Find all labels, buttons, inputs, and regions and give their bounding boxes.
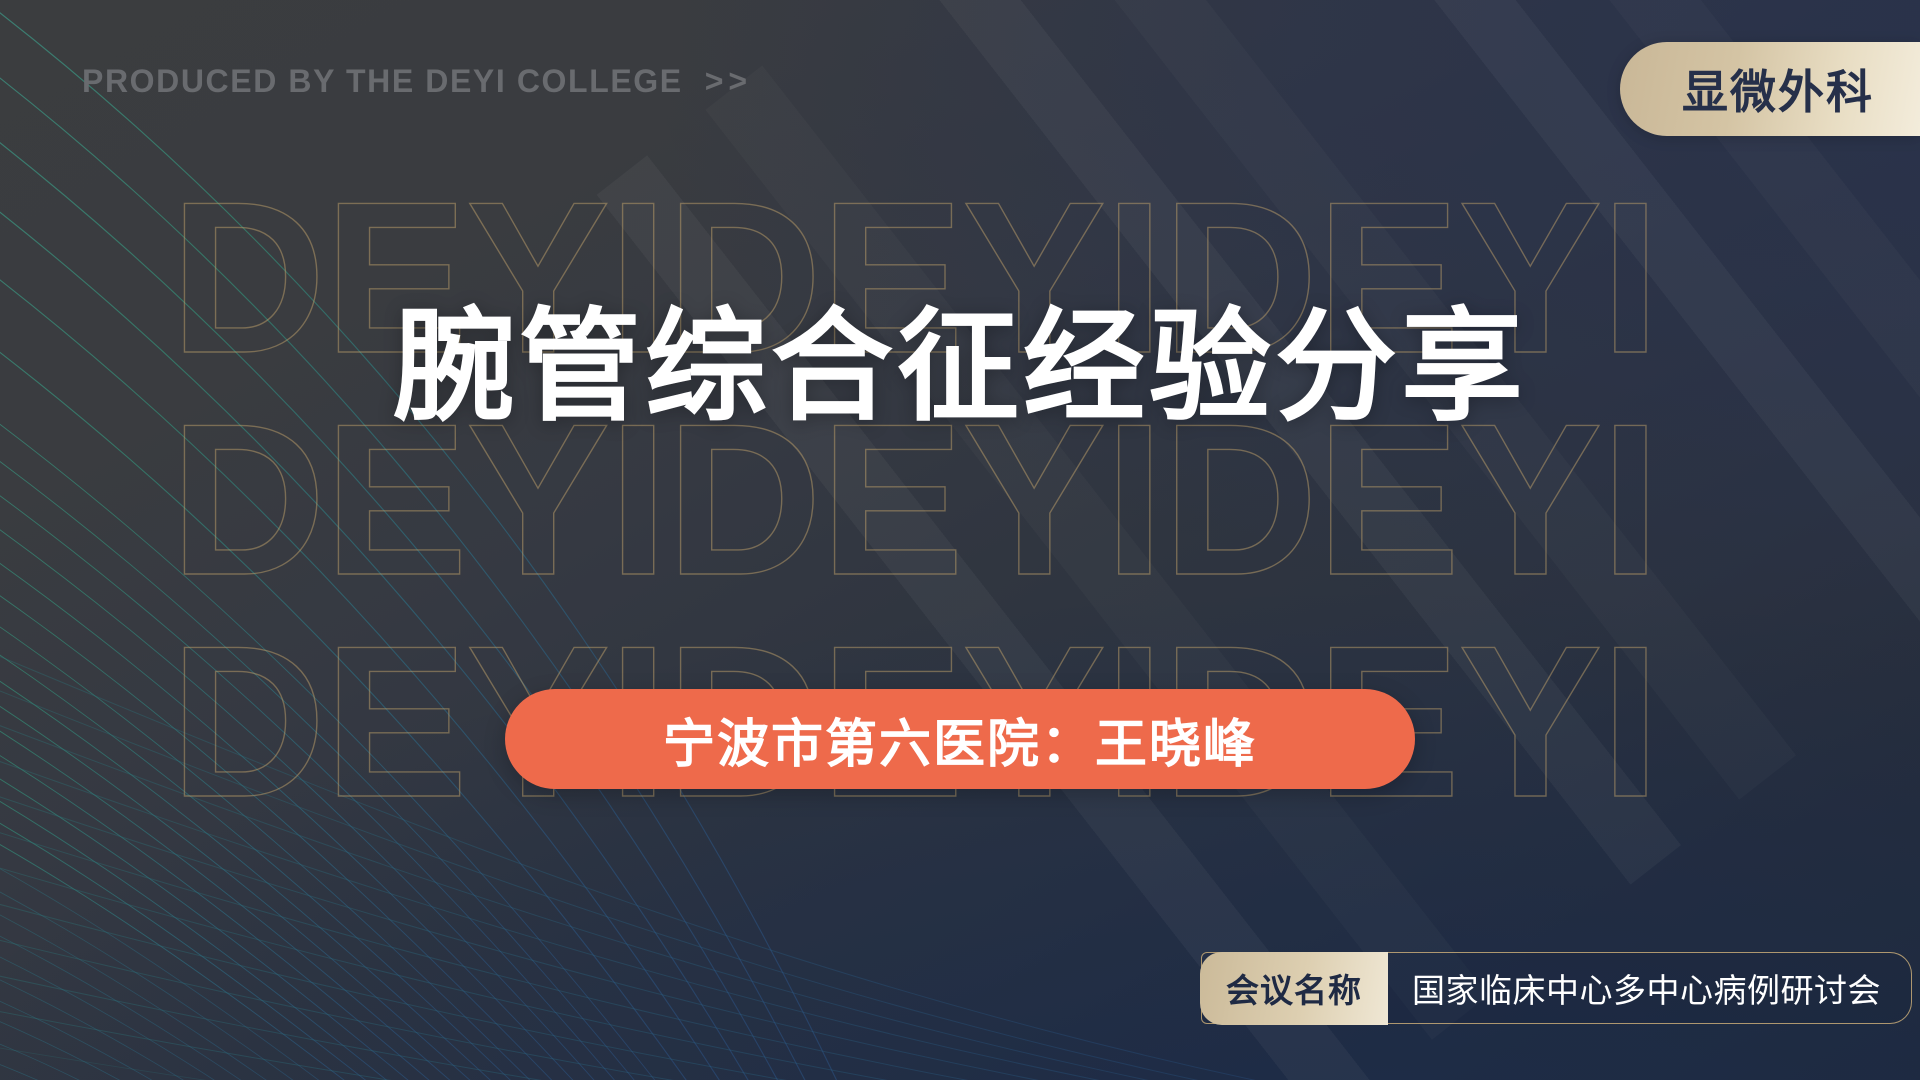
speaker-pill-label: 宁波市第六医院：王晓峰 (663, 702, 1257, 777)
producer-kicker: PRODUCED BY THE DEYI COLLEGE>> (82, 63, 752, 100)
chevron-right-icon: >> (705, 63, 752, 99)
conference-name-bar: 会议名称 国家临床中心多中心病例研讨会 (1201, 952, 1913, 1024)
arc-line-decoration (0, 0, 1920, 1080)
presentation-title-slide: DEYIDEYIDEYI DEYIDEYIDEYI DEYIDEYIDEYI P… (0, 0, 1920, 1080)
conference-name-value: 国家临床中心多中心病例研讨会 (1412, 964, 1881, 1012)
conference-name-label: 会议名称 (1226, 964, 1362, 1012)
diagonal-streak-decoration (556, 0, 1920, 1080)
department-badge-label: 显微外科 (1682, 56, 1874, 122)
navy-gradient-overlay (0, 0, 1920, 1080)
speaker-pill: 宁波市第六医院：王晓峰 (505, 689, 1415, 789)
conference-name-label-chip: 会议名称 (1200, 952, 1388, 1025)
conference-name-value-wrap: 国家临床中心多中心病例研讨会 (1388, 953, 1911, 1023)
department-badge: 显微外科 (1620, 42, 1920, 136)
producer-kicker-text: PRODUCED BY THE DEYI COLLEGE (82, 63, 683, 99)
slide-title: 腕管综合征经验分享 (0, 268, 1920, 445)
